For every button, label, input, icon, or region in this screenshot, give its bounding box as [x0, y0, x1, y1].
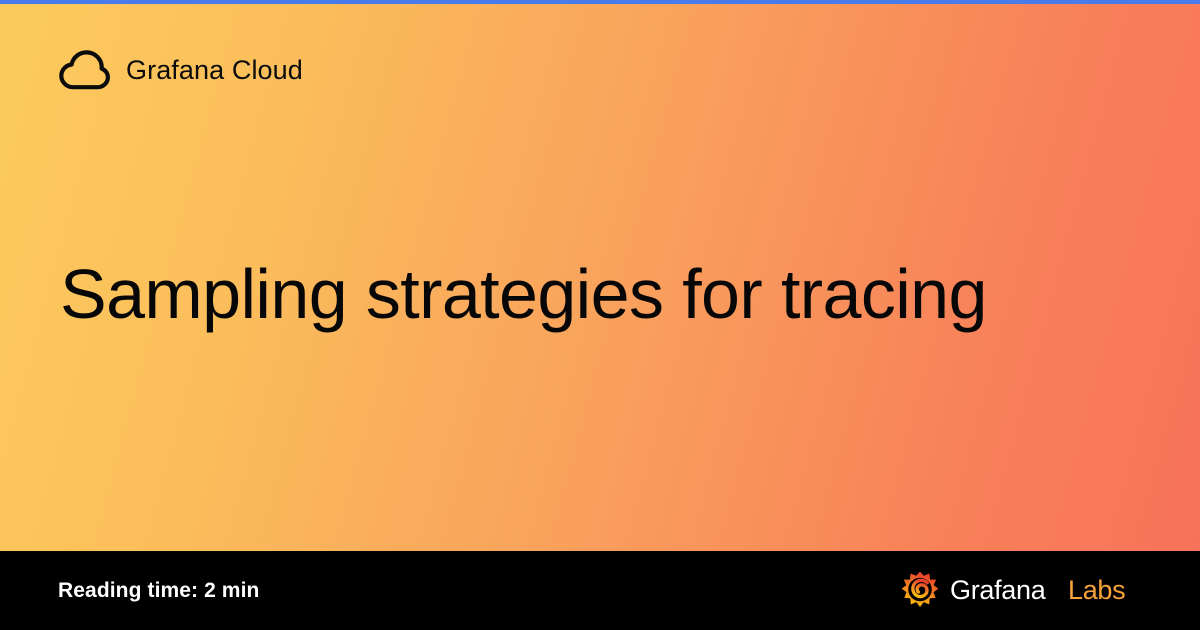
grafana-labs-logo: Grafana Labs [901, 571, 1142, 611]
social-card: Grafana Cloud Sampling strategies for tr… [0, 0, 1200, 630]
grafana-spiral-logo-icon [901, 571, 939, 611]
reading-time-label: Reading time: 2 min [58, 579, 259, 603]
product-branding: Grafana Cloud [58, 48, 303, 92]
page-title: Sampling strategies for tracing [60, 255, 1120, 335]
top-accent-bar [0, 0, 1200, 4]
footer-bar: Reading time: 2 min [0, 551, 1200, 630]
grafana-labs-wordmark: Grafana Labs [950, 576, 1142, 606]
cloud-icon [58, 50, 110, 90]
brand-label: Grafana Cloud [126, 57, 303, 84]
svg-text:Grafana: Grafana [950, 576, 1047, 605]
title-container: Sampling strategies for tracing [60, 255, 1120, 335]
svg-text:Labs: Labs [1068, 576, 1125, 605]
